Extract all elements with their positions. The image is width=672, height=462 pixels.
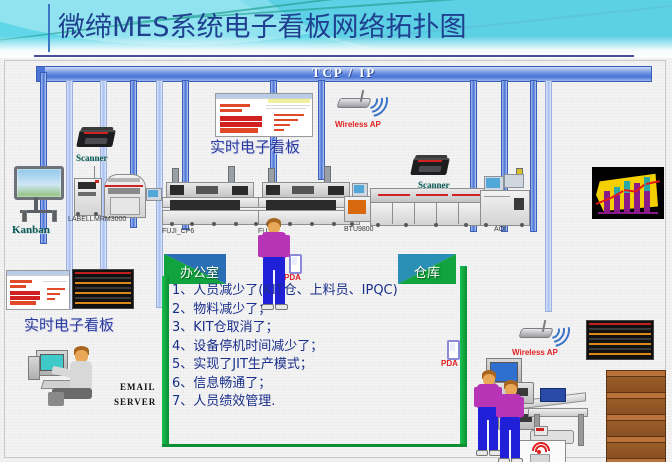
drop-cable-ap	[318, 80, 325, 180]
dash-top-bar-5	[220, 128, 258, 133]
table-left-row-4	[75, 292, 131, 294]
fuji1-dark3	[232, 186, 248, 195]
table-left-title	[75, 272, 131, 274]
wh-worker2-shoe-right	[511, 458, 523, 462]
labeller-screen	[78, 182, 96, 189]
table-wh-row-4	[589, 343, 651, 345]
wh-worker2-arm-left	[496, 397, 502, 417]
chart-bar-1	[604, 191, 610, 213]
operator-arm-left	[258, 235, 265, 257]
dash-top-band	[268, 99, 310, 103]
drop-cable-aoi-right	[530, 80, 537, 232]
btu-wheel-3	[434, 223, 438, 227]
dash-top-bar-1	[220, 104, 250, 107]
pda-line-icon	[289, 254, 302, 274]
dash-bottom-bar-3	[10, 291, 40, 295]
email-server-operator	[22, 340, 118, 410]
office-zone-label: 办公室	[180, 262, 219, 281]
kanban-label: Kanban	[12, 224, 50, 236]
line-pc-1-screen	[148, 190, 158, 197]
wh-worker1-shoe-left	[476, 450, 488, 456]
wifi-base	[530, 454, 550, 462]
fuji1-dark2	[196, 186, 218, 194]
server-tower	[28, 356, 40, 380]
btu-div-3	[436, 202, 437, 224]
wh-worker2-leg-split	[509, 430, 511, 459]
btu-div-2	[414, 202, 415, 224]
aoi-wheel-1	[484, 223, 488, 227]
table-left-row-5	[75, 297, 131, 299]
fuji1-wheel-1	[170, 222, 174, 226]
dash-top-bar-2	[220, 109, 242, 112]
table-wh-title	[589, 323, 651, 325]
btu-wheel-2	[404, 223, 408, 227]
fuji1-wheel-4	[234, 222, 238, 226]
benefit-item-6: 6、信息畅通了；	[172, 375, 472, 394]
mrm3000-topband	[108, 178, 140, 182]
dash-top-bar-7	[274, 119, 298, 121]
dash-top-bar-9	[274, 129, 284, 131]
mes-table-screen-warehouse	[586, 320, 654, 360]
wh-worker2-shoe-left	[498, 458, 510, 462]
scanner-left-stripe	[84, 132, 108, 134]
fuji2-dark1	[266, 185, 280, 195]
aoi-window	[514, 198, 524, 210]
fuji2-wheel-4	[332, 222, 336, 226]
chart-baseline	[598, 212, 658, 214]
scanner-left-label: Scanner	[76, 153, 108, 163]
carton-4	[606, 436, 666, 460]
wh-worker1-arm-left	[474, 387, 480, 407]
fuji-cp6-left-label: FUJI_CP6	[162, 228, 194, 235]
carton-3	[606, 414, 666, 438]
warehouse-zone-label: 仓库	[414, 262, 440, 281]
dash-bottom-bar-7	[47, 293, 60, 295]
wireless-ap-top-icon	[338, 90, 388, 114]
table-wh-row-5	[589, 348, 651, 350]
table-left-row-6	[75, 302, 131, 304]
aoi-label: AOI	[494, 226, 506, 233]
pda-warehouse-label: PDA	[441, 359, 458, 368]
network-bus: TCP / IP	[36, 66, 652, 82]
fuji2-dark2	[292, 186, 314, 194]
scanner-left-icon	[76, 126, 116, 150]
mrm3000-door	[110, 197, 140, 215]
carton-5	[606, 458, 666, 462]
bus-label: TCP / IP	[37, 65, 651, 81]
scanner-right-window	[418, 166, 441, 172]
title-separator	[48, 4, 50, 52]
title-underline	[34, 55, 634, 57]
benefits-bar-bottom	[162, 444, 467, 447]
kanban-dashboard-top-label: 实时电子看板	[210, 136, 300, 157]
dash-bottom-bar-5	[10, 301, 36, 305]
fuji2-wheel-3	[310, 222, 314, 226]
dash-top-line-1	[266, 105, 310, 106]
chart-bar-3b	[624, 193, 630, 213]
drop-cable-warehouse	[545, 80, 552, 312]
kanban-tv-screen	[14, 166, 64, 200]
table-left-row-3	[75, 287, 131, 289]
btu-div-4	[458, 202, 459, 224]
dash-bottom-bar-8	[47, 298, 55, 300]
carton-1-lid	[607, 371, 665, 377]
kanban-tv-leg-left	[22, 210, 27, 222]
page-title: 微缔MES系统电子看板网络拓扑图	[58, 8, 467, 48]
dash-top-bar-4	[220, 122, 262, 127]
aoi-control	[504, 174, 524, 188]
server-operator-chair	[48, 392, 64, 406]
wh-worker1-leg-split	[487, 420, 489, 451]
btu9800-label: BTU9800	[344, 226, 374, 233]
btu-div-1	[392, 202, 393, 224]
topology-canvas: TCP / IP Kanban Scanner	[0, 58, 672, 462]
btu-stripe-2	[416, 194, 448, 196]
fuji1-wheel-2	[190, 222, 194, 226]
kanban-tv-neck	[34, 197, 38, 211]
table-left-row-2	[75, 282, 131, 284]
email-server-label-line2: SERVER	[114, 397, 156, 407]
benefit-item-2: 2、物料减少了；	[172, 301, 472, 320]
btu-body	[370, 202, 492, 226]
btu-stripe-1	[378, 194, 410, 196]
benefit-item-4: 4、设备停机时间减少了；	[172, 338, 472, 357]
pda-warehouse-icon	[447, 340, 460, 360]
dash-bottom-bar-2	[10, 285, 26, 288]
aoi-line	[484, 196, 510, 197]
slide-root: 微缔MES系统电子看板网络拓扑图 TCP / IP Kanban	[0, 0, 672, 462]
dash-top-line-2	[266, 108, 306, 109]
dash-bottom-line-1	[43, 281, 67, 282]
table-wh-row-3	[589, 338, 651, 340]
scanner-right-label: Scanner	[418, 180, 450, 190]
benefits-list: 1、人员减少了(KIT仓、上料员、IPQC) 2、物料减少了； 3、KIT仓取消…	[172, 282, 472, 412]
btu-wheel-4	[464, 223, 468, 227]
carton-2-lid	[607, 393, 665, 399]
labeller-slot	[78, 192, 96, 196]
dash-top-bar-3	[220, 116, 262, 121]
benefit-item-3: 3、KIT仓取消了；	[172, 319, 472, 338]
benefit-item-7: 7、人员绩效管理.	[172, 393, 472, 412]
fuji2-dark3	[328, 186, 344, 195]
kanban-dashboard-bottom-label: 实时电子看板	[24, 314, 114, 335]
benefit-item-1: 1、人员减少了(KIT仓、上料员、IPQC)	[172, 282, 472, 301]
fuji2-wheel-2	[288, 222, 292, 226]
btu-control-panel	[348, 200, 366, 214]
operator-arm-right	[283, 235, 290, 257]
fuji1-dark1	[170, 185, 184, 195]
dash-top-bar-6	[274, 114, 304, 116]
btu-pc-display	[354, 185, 364, 193]
kanban-tv	[14, 166, 64, 200]
carton-2	[606, 392, 666, 416]
wh-worker2-arm-right	[518, 397, 524, 417]
warehouse-blue-device	[540, 388, 566, 402]
chart-bar-2b	[614, 195, 620, 213]
table-left-row-1	[75, 277, 131, 279]
dash-bottom-bar-4	[10, 296, 40, 300]
dash-bottom-header	[7, 271, 69, 276]
benefit-item-5: 5、实现了JIT生产模式；	[172, 356, 472, 375]
scanner-right-stripe	[418, 160, 442, 162]
carton-3-lid	[607, 415, 665, 421]
wireless-ap-top-label: Wireless AP	[335, 120, 381, 129]
warehouse-scanner-led	[536, 428, 544, 431]
labeller-label: LABELL	[68, 216, 94, 223]
carton-4-lid	[607, 437, 665, 443]
wireless-ap-warehouse-icon	[520, 320, 570, 344]
table-wh-row-2	[589, 333, 651, 335]
wireless-ap-warehouse-label: Wireless AP	[512, 348, 558, 357]
chart-bar-5b	[644, 191, 650, 213]
email-server-label-line1: EMAIL	[120, 382, 156, 392]
aoi-monitor-screen	[486, 178, 500, 188]
kanban-tv-leg-right	[52, 210, 57, 222]
benefits-bar-left	[162, 276, 169, 444]
drop-cable-kanban	[40, 72, 47, 244]
btu-wheel-1	[376, 223, 380, 227]
kanban-dashboard-bottom	[6, 270, 70, 310]
dash-top-bar-8	[274, 124, 290, 126]
statistics-chart-image	[592, 167, 664, 219]
table-wh-row-1	[589, 328, 651, 330]
warehouse-worker-2	[496, 380, 524, 462]
labeller-led	[95, 180, 99, 183]
aoi-wheel-2	[520, 223, 524, 227]
scanner-left-window	[84, 138, 107, 144]
fuji1-wheel-3	[212, 222, 216, 226]
mrm3000-stripe	[105, 185, 143, 187]
dash-bottom-bar-6	[47, 288, 65, 290]
carton-1	[606, 370, 666, 394]
mrm3000-label: MRM3000	[94, 216, 126, 223]
scanner-right-icon	[410, 154, 450, 178]
table-wh-row-6	[589, 353, 651, 355]
kanban-dashboard-top	[215, 93, 313, 137]
mes-table-screen-left	[72, 269, 134, 309]
dash-bottom-bar-1	[10, 280, 32, 283]
mrm3000-band	[108, 188, 140, 194]
warehouse-desk-leg-2	[578, 414, 584, 446]
